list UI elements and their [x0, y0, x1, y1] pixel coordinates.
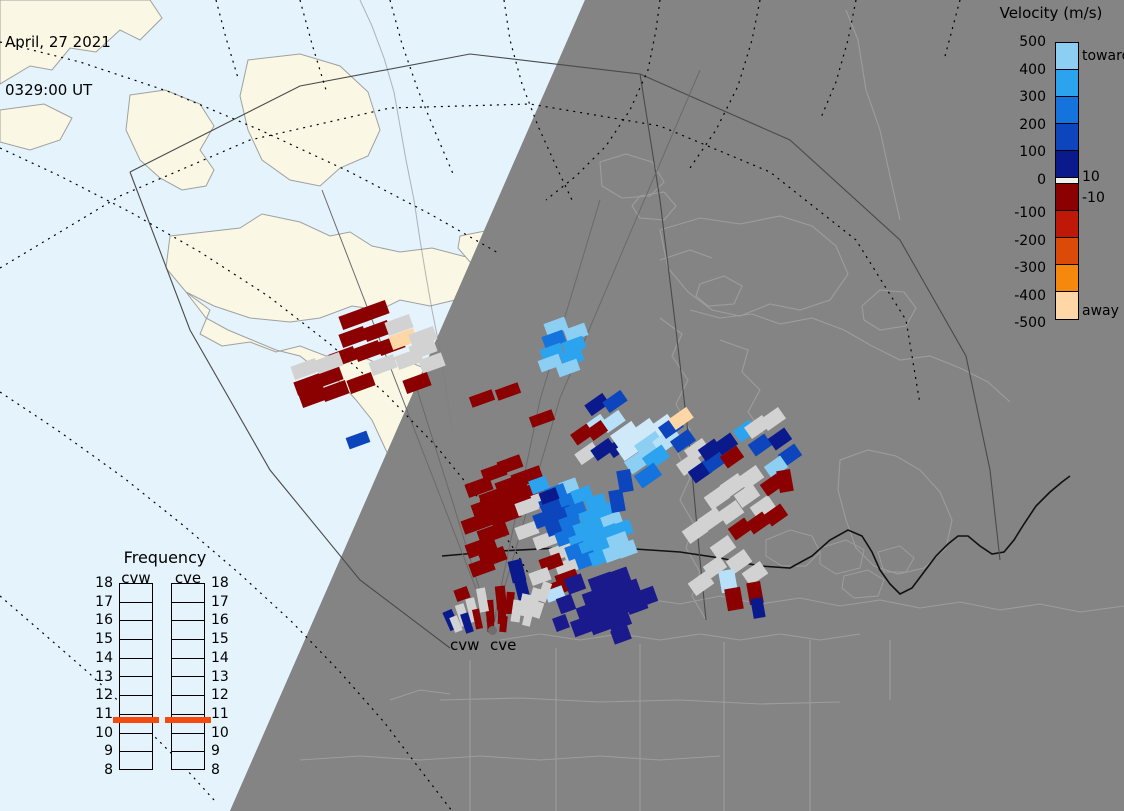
frequency-tick-cve-13: 13	[211, 669, 229, 685]
colorbar-swatch	[1056, 151, 1078, 178]
frequency-scale-cell	[172, 734, 204, 753]
frequency-scale-cell	[172, 677, 204, 696]
frequency-tick-cve-11: 11	[211, 706, 229, 722]
frequency-tick-cve-14: 14	[211, 650, 229, 666]
frequency-tick-cve-16: 16	[211, 612, 229, 628]
colorbar-neg-threshold: -10	[1082, 190, 1105, 206]
frequency-scale-cell	[172, 696, 204, 715]
colorbar-swatch	[1056, 43, 1078, 70]
timestamp-block: April, 27 2021 0329:00 UT	[5, 2, 111, 130]
frequency-tick-cvw-12: 12	[85, 687, 113, 703]
radar-site-marker	[488, 626, 497, 635]
frequency-scale-cvw	[119, 583, 153, 770]
frequency-scale-cell	[120, 696, 152, 715]
backscatter-cell	[497, 454, 524, 474]
backscatter-cell	[529, 409, 555, 428]
backscatter-cell	[495, 382, 521, 401]
colorbar-away-label: away	[1082, 303, 1119, 319]
backscatter-cell	[776, 469, 794, 493]
colorbar-swatches	[1055, 42, 1079, 320]
colorbar-swatch	[1056, 97, 1078, 124]
frequency-scale-cell	[120, 621, 152, 640]
frequency-scale-cell	[172, 603, 204, 622]
colorbar-tick-300: 300	[1019, 89, 1046, 105]
backscatter-cell	[360, 300, 389, 322]
radar-site-label-cve: cve	[490, 636, 516, 654]
frequency-tick-cve-18: 18	[211, 575, 229, 591]
colorbar-swatch	[1056, 292, 1078, 319]
frequency-tick-cve-12: 12	[211, 687, 229, 703]
velocity-colorbar: Velocity (m/s) 5004003002001000-100-200-…	[978, 0, 1124, 340]
backscatter-cell	[724, 587, 744, 611]
colorbar-tick-100: 100	[1019, 144, 1046, 160]
frequency-tick-cvw-13: 13	[85, 669, 113, 685]
backscatter-cell	[368, 354, 397, 376]
timestamp-date: April, 27 2021	[5, 34, 111, 50]
frequency-scale-cell	[172, 752, 204, 771]
colorbar-tick-neg300: -300	[1014, 260, 1046, 276]
frequency-tick-cvw-9: 9	[85, 743, 113, 759]
colorbar-swatch	[1056, 265, 1078, 292]
backscatter-cell	[469, 389, 495, 408]
colorbar-title: Velocity (m/s)	[978, 4, 1124, 22]
frequency-title: Frequency	[85, 548, 245, 567]
colorbar-swatch	[1056, 211, 1078, 238]
frequency-marker-cvw	[113, 717, 159, 723]
frequency-scale-cell	[172, 621, 204, 640]
colorbar-swatch	[1056, 70, 1078, 97]
backscatter-cell	[710, 535, 737, 560]
backscatter-cell	[346, 372, 375, 394]
frequency-tick-cvw-10: 10	[85, 725, 113, 741]
frequency-scale-cell	[120, 640, 152, 659]
timestamp-time: 0329:00 UT	[5, 82, 111, 98]
frequency-scale-cell	[120, 734, 152, 753]
colorbar-tick-neg200: -200	[1014, 233, 1046, 249]
frequency-panel: Frequency cvw18171615141312111098cve1817…	[85, 545, 245, 790]
backscatter-cell	[552, 614, 570, 632]
frequency-tick-cvw-16: 16	[85, 612, 113, 628]
radar-site-label-cvw: cvw	[450, 636, 479, 654]
colorbar-pos-threshold: 10	[1082, 169, 1100, 185]
backscatter-cell	[402, 372, 431, 394]
colorbar-tick-400: 400	[1019, 62, 1046, 78]
colorbar-tick-neg100: -100	[1014, 205, 1046, 221]
frequency-tick-cve-9: 9	[211, 743, 220, 759]
colorbar-tick-200: 200	[1019, 117, 1046, 133]
backscatter-cell	[602, 390, 627, 413]
colorbar-tick-neg500: -500	[1014, 315, 1046, 331]
frequency-scale-cell	[120, 584, 152, 603]
colorbar-swatch	[1056, 184, 1078, 211]
frequency-scale-cell	[172, 640, 204, 659]
frequency-scale-cell	[120, 603, 152, 622]
frequency-tick-cvw-11: 11	[85, 706, 113, 722]
backscatter-cell	[346, 431, 371, 450]
frequency-scale-cell	[120, 752, 152, 771]
frequency-scale-cve	[171, 583, 205, 770]
frequency-tick-cvw-8: 8	[85, 762, 113, 778]
frequency-tick-cve-10: 10	[211, 725, 229, 741]
superdarn-velocity-map: April, 27 2021 0329:00 UT Velocity (m/s)…	[0, 0, 1124, 811]
colorbar-toward-label: toward	[1082, 48, 1124, 64]
frequency-tick-cvw-17: 17	[85, 594, 113, 610]
frequency-tick-cvw-18: 18	[85, 575, 113, 591]
frequency-scale-cell	[172, 659, 204, 678]
frequency-scale-cell	[172, 584, 204, 603]
frequency-tick-cvw-15: 15	[85, 631, 113, 647]
frequency-scale-cell	[120, 677, 152, 696]
colorbar-tick-0: 0	[1037, 172, 1046, 188]
frequency-tick-cve-8: 8	[211, 762, 220, 778]
frequency-marker-cve	[165, 717, 211, 723]
frequency-tick-cve-15: 15	[211, 631, 229, 647]
colorbar-swatch	[1056, 124, 1078, 151]
frequency-scale-cell	[120, 659, 152, 678]
frequency-tick-cve-17: 17	[211, 594, 229, 610]
backscatter-cell	[768, 428, 792, 451]
colorbar-swatch	[1056, 238, 1078, 265]
colorbar-tick-500: 500	[1019, 34, 1046, 50]
frequency-tick-cvw-14: 14	[85, 650, 113, 666]
colorbar-tick-neg400: -400	[1014, 288, 1046, 304]
